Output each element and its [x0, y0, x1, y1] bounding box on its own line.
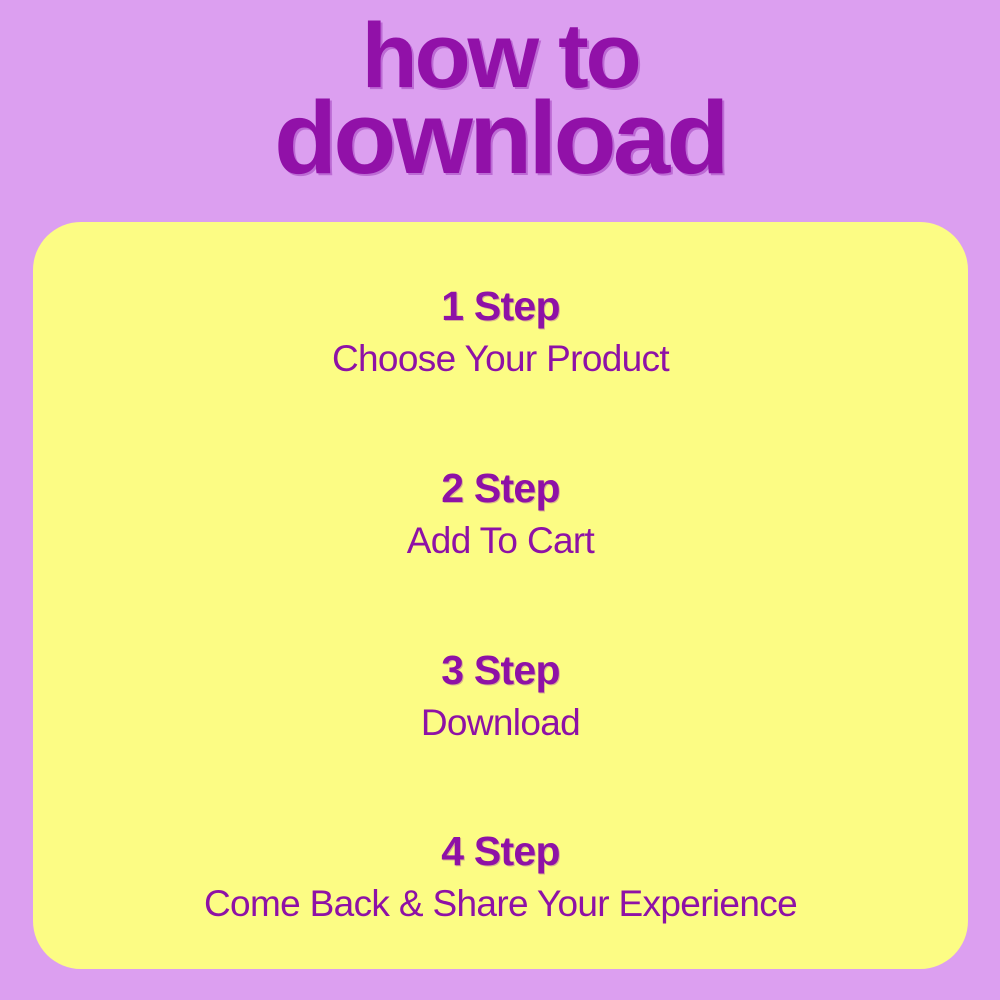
step-3-description: Download — [33, 703, 968, 744]
step-4-heading: 4 Step — [33, 829, 968, 874]
step-item-2: 2 Step Add To Cart — [33, 466, 968, 562]
step-item-4: 4 Step Come Back & Share Your Experience — [33, 829, 968, 925]
step-item-3: 3 Step Download — [33, 648, 968, 744]
step-1-description: Choose Your Product — [33, 339, 968, 380]
step-2-description: Add To Cart — [33, 521, 968, 562]
step-3-heading: 3 Step — [33, 648, 968, 693]
step-1-heading: 1 Step — [33, 284, 968, 329]
step-item-1: 1 Step Choose Your Product — [33, 284, 968, 380]
poster-canvas: how to download 1 Step Choose Your Produ… — [0, 0, 1000, 1000]
step-2-heading: 2 Step — [33, 466, 968, 511]
page-title-line-2: download — [0, 95, 1000, 182]
steps-card: 1 Step Choose Your Product 2 Step Add To… — [33, 222, 968, 969]
poster-title: how to download — [0, 18, 1000, 182]
step-4-description: Come Back & Share Your Experience — [33, 884, 968, 925]
